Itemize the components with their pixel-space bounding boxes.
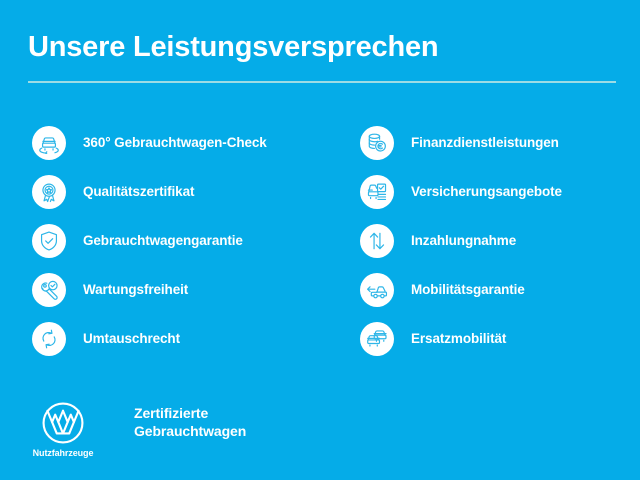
benefits-column-left: 360° Gebrauchtwagen-Check Qualitätszerti… [32,126,332,371]
tow-truck-icon [360,273,394,307]
benefit-item-qualitaetszertifikat[interactable]: Qualitätszertifikat [32,175,332,224]
title-divider [28,81,616,83]
shield-check-icon [32,224,66,258]
vw-logo-wordmark: Nutzfahrzeuge [33,448,94,458]
exchange-arrows-icon [32,322,66,356]
benefit-label: Wartungsfreiheit [83,282,188,298]
benefit-item-gebrauchtwagengarantie[interactable]: Gebrauchtwagengarantie [32,224,332,273]
header: Unsere Leistungsversprechen [28,30,616,83]
arrows-up-down-icon [360,224,394,258]
wrench-check-icon [32,273,66,307]
benefit-label: Qualitätszertifikat [83,184,194,200]
benefit-item-versicherungsangebote[interactable]: Versicherungsangebote [360,175,630,224]
benefit-item-360-check[interactable]: 360° Gebrauchtwagen-Check [32,126,332,175]
slide-canvas: Unsere Leistungsversprechen 360° Gebrauc… [0,0,640,480]
benefit-item-finanzdienstleistungen[interactable]: Finanzdienstleistungen [360,126,630,175]
benefit-label: Mobilitätsgarantie [411,282,525,298]
benefit-label: Ersatzmobilität [411,331,506,347]
benefit-item-inzahlungnahme[interactable]: Inzahlungnahme [360,224,630,273]
benefit-label: Versicherungsangebote [411,184,562,200]
benefit-label: Finanzdienstleistungen [411,135,559,151]
award-rosette-star-icon [32,175,66,209]
benefit-item-ersatzmobilitaet[interactable]: Ersatzmobilität [360,322,630,371]
benefit-label: Gebrauchtwagengarantie [83,233,243,249]
benefit-label: 360° Gebrauchtwagen-Check [83,135,267,151]
car-front-360-check-icon [32,126,66,160]
footer-headline-line2: Gebrauchtwagen [134,423,246,441]
footer-headline: Zertifizierte Gebrauchtwagen [134,405,246,440]
volkswagen-logo-icon [41,401,85,445]
benefit-item-umtauschrecht[interactable]: Umtauschrecht [32,322,332,371]
benefits-column-right: Finanzdienstleistungen Versicherungsange… [360,126,630,371]
page-title: Unsere Leistungsversprechen [28,30,616,64]
vw-logo: Nutzfahrzeuge [32,401,94,458]
benefit-item-mobilitaetsgarantie[interactable]: Mobilitätsgarantie [360,273,630,322]
car-document-check-icon [360,175,394,209]
two-cars-icon [360,322,394,356]
benefit-item-wartungsfreiheit[interactable]: Wartungsfreiheit [32,273,332,322]
coins-euro-icon [360,126,394,160]
benefit-label: Inzahlungnahme [411,233,516,249]
footer: Nutzfahrzeuge Zertifizierte Gebrauchtwag… [32,401,246,458]
benefit-label: Umtauschrecht [83,331,180,347]
footer-headline-line1: Zertifizierte [134,405,246,423]
